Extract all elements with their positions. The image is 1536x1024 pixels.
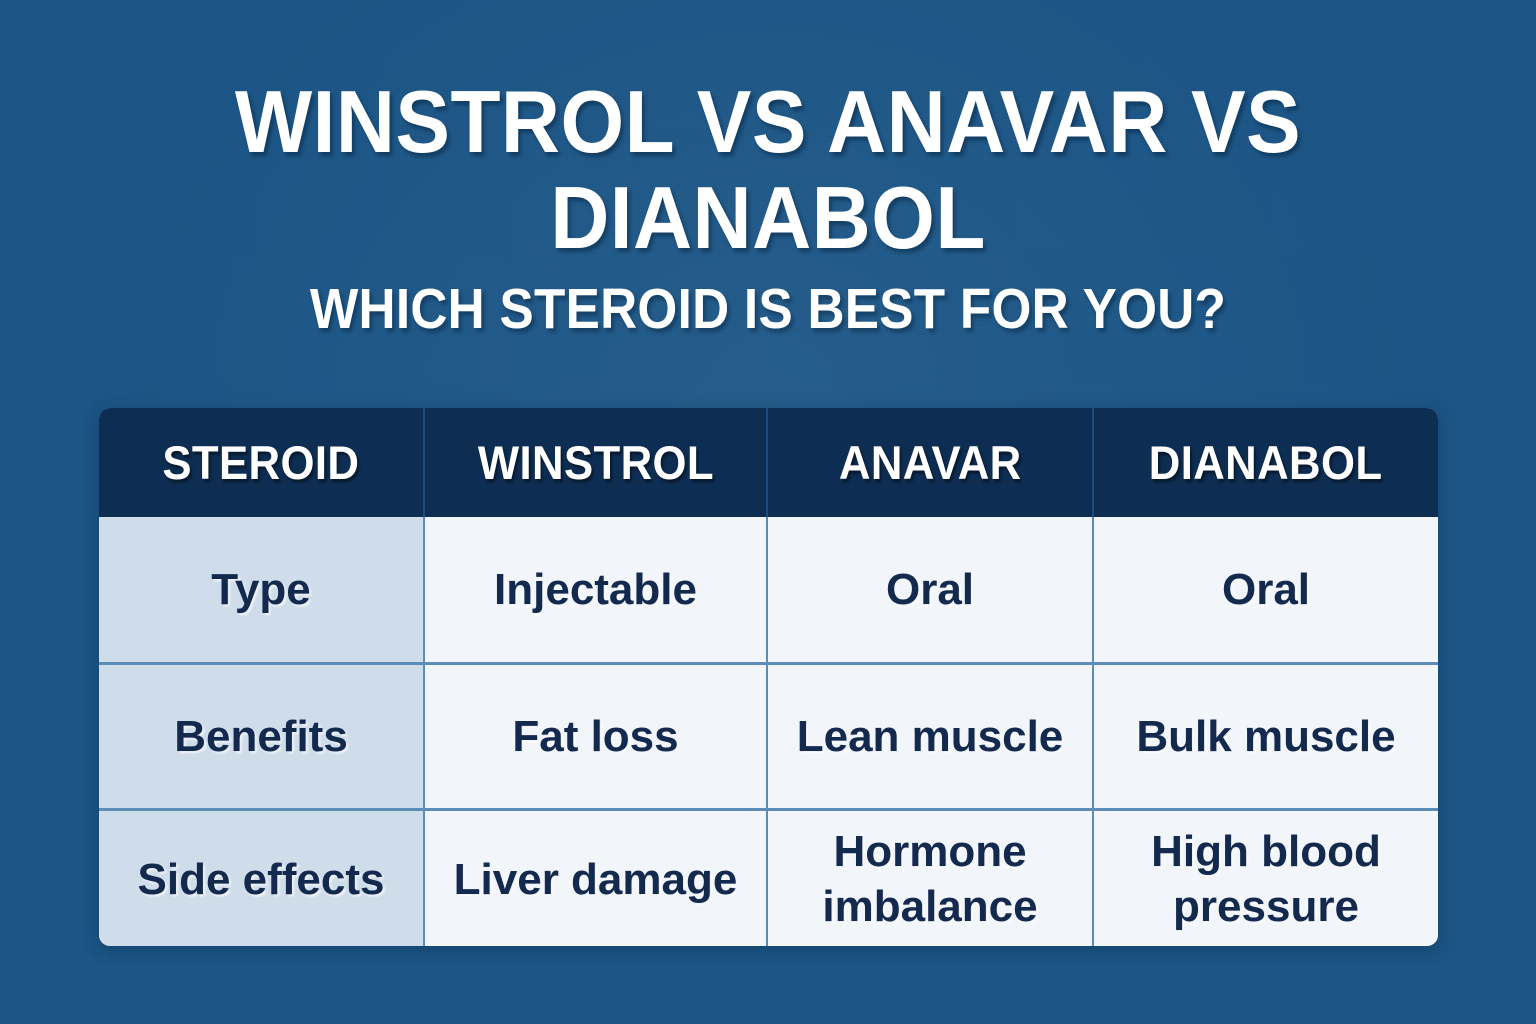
page-title: WINSTROL VS ANAVAR VS DIANABOL (54, 74, 1482, 266)
table-body: Type Injectable Oral Oral Benefits (99, 517, 1438, 946)
cell-side-effects-dianabol: High blood pressure (1093, 809, 1438, 946)
row-label-type-text: Type (211, 562, 310, 617)
column-header-dianabol-label: DIANABOL (1149, 435, 1383, 490)
column-header-anavar-label: ANAVAR (839, 435, 1022, 490)
table-row: Type Injectable Oral Oral (99, 517, 1438, 663)
row-label-side-effects: Side effects (99, 809, 424, 946)
column-header-dianabol: DIANABOL (1093, 408, 1438, 517)
row-label-type: Type (99, 517, 424, 663)
cell-benefits-anavar: Lean muscle (767, 663, 1093, 809)
cell-benefits-dianabol: Bulk muscle (1093, 663, 1438, 809)
table-header: STEROID WINSTROL ANAVAR DIANABOL (99, 408, 1438, 517)
comparison-table-container: STEROID WINSTROL ANAVAR DIANABOL (99, 408, 1438, 946)
cell-side-effects-anavar: Hormone imbalance (767, 809, 1093, 946)
table-row: Side effects Liver damage Hormone imbala… (99, 809, 1438, 946)
page-subtitle: WHICH STEROID IS BEST FOR YOU? (77, 278, 1459, 340)
comparison-table: STEROID WINSTROL ANAVAR DIANABOL (99, 408, 1438, 946)
cell-benefits-winstrol: Fat loss (424, 663, 767, 809)
cell-side-effects-anavar-text: Hormone imbalance (822, 824, 1037, 934)
cell-type-anavar: Oral (767, 517, 1093, 663)
cell-type-anavar-text: Oral (886, 562, 974, 617)
table-row: Benefits Fat loss Lean muscle Bulk muscl… (99, 663, 1438, 809)
column-header-winstrol: WINSTROL (424, 408, 767, 517)
cell-side-effects-dianabol-text: High blood pressure (1151, 824, 1381, 934)
cell-benefits-winstrol-text: Fat loss (512, 709, 678, 764)
cell-type-dianabol: Oral (1093, 517, 1438, 663)
cell-type-winstrol-text: Injectable (494, 562, 697, 617)
row-label-benefits: Benefits (99, 663, 424, 809)
infographic-page: WINSTROL VS ANAVAR VS DIANABOL WHICH STE… (0, 0, 1536, 1024)
column-header-anavar: ANAVAR (767, 408, 1093, 517)
row-label-side-effects-text: Side effects (138, 852, 385, 907)
column-header-steroid-label: STEROID (163, 435, 360, 490)
cell-benefits-dianabol-text: Bulk muscle (1136, 709, 1395, 764)
cell-benefits-anavar-text: Lean muscle (797, 709, 1064, 764)
row-label-benefits-text: Benefits (174, 709, 348, 764)
heading-block: WINSTROL VS ANAVAR VS DIANABOL WHICH STE… (0, 74, 1536, 340)
column-header-steroid: STEROID (99, 408, 424, 517)
cell-type-dianabol-text: Oral (1222, 562, 1310, 617)
cell-side-effects-winstrol: Liver damage (424, 809, 767, 946)
cell-type-winstrol: Injectable (424, 517, 767, 663)
table-header-row: STEROID WINSTROL ANAVAR DIANABOL (99, 408, 1438, 517)
cell-side-effects-winstrol-text: Liver damage (454, 852, 738, 907)
column-header-winstrol-label: WINSTROL (477, 435, 713, 490)
